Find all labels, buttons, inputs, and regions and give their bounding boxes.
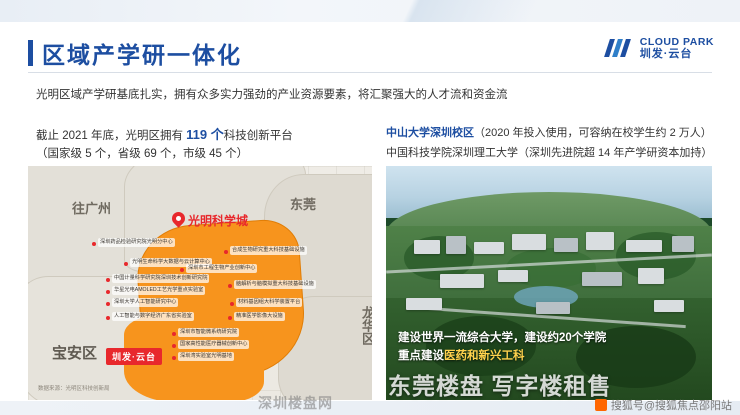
map-poi-label: 深圳市工程生物产业创新中心 <box>186 264 257 273</box>
logo-text-en: CLOUD PARK <box>640 36 714 48</box>
photo-building <box>554 238 578 252</box>
map-poi-label: 合成生物研究重大科技基础设施 <box>230 246 307 255</box>
right-caption-1: 中山大学深圳校区（2020 年投入使用，可容纳在校学生约 2 万人） <box>386 124 716 140</box>
map-poi-dot <box>172 356 176 360</box>
photo-building <box>654 300 684 312</box>
map-poi-label: 人工智能与数字经济广东省实验室 <box>112 312 194 321</box>
title-accent-bar <box>28 40 33 66</box>
map-poi-dot <box>228 316 232 320</box>
map-poi-dot <box>106 278 110 282</box>
map-label-longhua: 龙华区 <box>358 306 372 345</box>
map-label-dongguan: 东莞 <box>290 194 316 213</box>
map-poi-dot <box>172 344 176 348</box>
map-poi-label: 材料基因组大科学装置平台 <box>236 298 302 307</box>
map-poi-label: 脑解析与脑模拟重大科技基础设施 <box>234 280 316 289</box>
map-poi-dot <box>180 268 184 272</box>
stat-number: 119 个 <box>186 127 224 142</box>
photo-caption-line-2: 重点建设医药和新兴工科 <box>398 348 698 366</box>
map-poi-label: 深圳药品检验研究院光明分中心 <box>98 238 175 247</box>
map-poi-label: 深圳市智能微系统研究院 <box>178 328 239 337</box>
map-poi-dot <box>106 316 110 320</box>
photo-building <box>536 302 570 314</box>
stat-line-2: （国家级 5 个，省级 69 个，市级 45 个） <box>36 145 248 161</box>
title-text: 区域产学研一体化 <box>42 36 242 70</box>
location-pin-icon <box>172 212 185 225</box>
photo-building <box>414 240 440 254</box>
photo-building <box>626 240 662 252</box>
map-poi-dot <box>228 284 232 288</box>
map-poi-label: 深圳大学人工智能研究中心 <box>112 298 178 307</box>
map-pin-label: 光明科学城 <box>188 212 248 229</box>
map-poi-dot <box>124 262 128 266</box>
map-label-baoan: 宝安区 <box>52 342 97 363</box>
logo-text-cn: 圳发·云台 <box>640 48 714 61</box>
brand-logo: CLOUD PARK 圳发·云台 <box>607 36 714 61</box>
photo-building <box>446 236 466 254</box>
right-caption-2: 中国科技学院深圳理工大学（深圳先进院超 14 年产学研资本加持） <box>386 144 726 160</box>
photo-building <box>474 242 504 254</box>
map-label-guangzhou: 往广州 <box>72 198 111 217</box>
lead-paragraph: 光明区域产学研基底扎实，拥有众多实力强劲的产业资源要素，将汇聚强大的人才流和资金… <box>36 86 696 104</box>
map-poi-label: 中国计量科学研究院深圳技术创新研究院 <box>112 274 209 283</box>
slide-root: 区域产学研一体化 CLOUD PARK 圳发·云台 光明区域产学研基底扎实，拥有… <box>0 0 740 415</box>
photo-caption-line-1: 建设世界一流综合大学，建设约20个学院 <box>398 330 698 348</box>
photo-building <box>582 272 622 286</box>
map-poi-dot <box>92 242 96 246</box>
stat-line-1: 截止 2021 年底，光明区拥有 119 个科技创新平台 <box>36 124 293 143</box>
photo-building <box>512 234 546 250</box>
right-caption-1-bold: 中山大学深圳校区 <box>386 127 474 139</box>
watermark-secondary: 深圳楼盘网 <box>258 393 333 413</box>
photo-building <box>440 274 484 288</box>
top-decorative-band <box>0 0 740 22</box>
map-footnote: 数据来源：光明区科技创新局 <box>38 386 110 394</box>
photo-caption-highlight: 医药和新兴工科 <box>444 350 525 362</box>
map-panel: 往广州 东莞 龙华区 宝安区 光明科学城 深圳药品检验研究院光明分中心 光明生命… <box>28 166 372 400</box>
map-poi-label: 精准医学影像大设施 <box>234 312 285 321</box>
logo-text: CLOUD PARK 圳发·云台 <box>640 36 714 61</box>
watermark-corner-text: 搜狐号@搜狐焦点邵阳站 <box>611 397 732 413</box>
right-caption-1-rest: （2020 年投入使用，可容纳在校学生约 2 万人） <box>474 127 712 139</box>
map-poi-label: 华星光电AMOLED工艺光学重点实验室 <box>112 286 205 295</box>
photo-building <box>498 270 528 282</box>
cloudpark-logo-icon <box>607 37 633 59</box>
map-poi-dot <box>106 302 110 306</box>
sohu-logo-icon <box>595 399 607 411</box>
title-divider <box>28 72 712 73</box>
photo-building <box>586 232 614 250</box>
map-poi-label: 国家高性能医疗器械创新中心 <box>178 340 249 349</box>
map-poi-label: 深圳湾实验室光明基地 <box>178 352 234 361</box>
campus-photo: 建设世界一流综合大学，建设约20个学院 重点建设医药和新兴工科 <box>386 166 712 400</box>
stat-suffix: 科技创新平台 <box>224 130 293 142</box>
stat-prefix: 截止 2021 年底，光明区拥有 <box>36 130 186 142</box>
map-poi-dot <box>230 302 234 306</box>
map-poi-dot <box>172 332 176 336</box>
photo-building <box>672 236 694 252</box>
photo-building <box>638 268 664 284</box>
watermark-corner: 搜狐号@搜狐焦点邵阳站 <box>595 397 732 413</box>
map-poi-dot <box>106 290 110 294</box>
photo-caption-line-2-pre: 重点建设 <box>398 350 444 362</box>
photo-building <box>406 298 442 310</box>
map-brand-badge: 圳发·云台 <box>106 348 162 365</box>
watermark-main: 东莞楼盘 写字楼租售 <box>388 367 611 401</box>
photo-caption: 建设世界一流综合大学，建设约20个学院 重点建设医药和新兴工科 <box>398 330 698 366</box>
map-poi-dot <box>224 250 228 254</box>
